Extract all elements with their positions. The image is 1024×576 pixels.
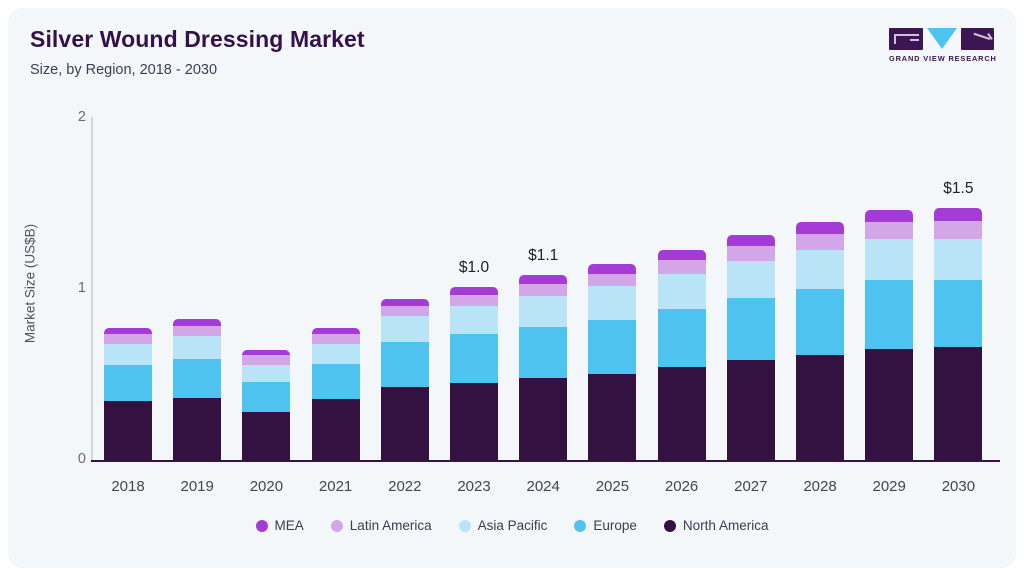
legend-swatch-icon <box>664 520 676 532</box>
bar-segment-north-america[interactable] <box>381 387 429 460</box>
bar-segment-latin-america[interactable] <box>242 355 290 365</box>
bar-segment-latin-america[interactable] <box>588 274 636 287</box>
bar-segment-north-america[interactable] <box>173 398 221 460</box>
bar-segment-asia-pacific[interactable] <box>312 344 360 365</box>
bar-segment-europe[interactable] <box>104 365 152 401</box>
y-axis-tick: 2 <box>54 109 86 125</box>
bar-segment-europe[interactable] <box>865 280 913 349</box>
bar-segment-mea[interactable] <box>934 208 982 221</box>
x-axis-tick-2019: 2019 <box>157 478 237 495</box>
y-axis-tick: 1 <box>54 280 86 296</box>
bar-2025[interactable] <box>588 8 636 460</box>
bar-segment-north-america[interactable] <box>519 378 567 460</box>
legend-swatch-icon <box>459 520 471 532</box>
bar-segment-latin-america[interactable] <box>312 334 360 344</box>
bar-segment-asia-pacific[interactable] <box>727 261 775 298</box>
bar-segment-europe[interactable] <box>796 289 844 355</box>
bar-segment-asia-pacific[interactable] <box>104 344 152 365</box>
bar-segment-north-america[interactable] <box>450 383 498 460</box>
bar-2022[interactable] <box>381 8 429 460</box>
bar-segment-asia-pacific[interactable] <box>519 296 567 327</box>
legend-swatch-icon <box>331 520 343 532</box>
bar-segment-europe[interactable] <box>658 309 706 367</box>
bar-2027[interactable] <box>727 8 775 460</box>
bar-segment-mea[interactable] <box>312 328 360 334</box>
bar-segment-europe[interactable] <box>312 364 360 399</box>
bar-segment-north-america[interactable] <box>934 347 982 460</box>
bar-segment-mea[interactable] <box>519 275 567 284</box>
bar-segment-mea[interactable] <box>381 299 429 306</box>
bar-segment-north-america[interactable] <box>865 349 913 460</box>
bar-segment-north-america[interactable] <box>658 367 706 460</box>
bar-segment-europe[interactable] <box>519 327 567 378</box>
x-axis-line <box>91 460 1000 462</box>
bar-2030[interactable]: $1.5 <box>934 8 982 460</box>
bar-segment-asia-pacific[interactable] <box>865 239 913 280</box>
bar-segment-north-america[interactable] <box>312 399 360 460</box>
bar-2028[interactable] <box>796 8 844 460</box>
y-axis-label: Market Size (US$B) <box>23 199 38 369</box>
bar-segment-latin-america[interactable] <box>934 221 982 238</box>
legend-label: Asia Pacific <box>478 518 548 533</box>
x-axis-tick-2030: 2030 <box>918 478 998 495</box>
x-axis-tick-2020: 2020 <box>226 478 306 495</box>
bar-segment-asia-pacific[interactable] <box>934 239 982 281</box>
bar-segment-latin-america[interactable] <box>658 260 706 274</box>
bar-segment-latin-america[interactable] <box>381 306 429 317</box>
x-axis-tick-2027: 2027 <box>711 478 791 495</box>
bar-segment-mea[interactable] <box>450 287 498 295</box>
bar-segment-mea[interactable] <box>727 235 775 246</box>
bar-segment-asia-pacific[interactable] <box>658 274 706 309</box>
bar-segment-north-america[interactable] <box>588 374 636 460</box>
bar-segment-mea[interactable] <box>173 319 221 325</box>
bar-segment-europe[interactable] <box>173 359 221 397</box>
bar-segment-north-america[interactable] <box>727 360 775 460</box>
bar-segment-latin-america[interactable] <box>519 284 567 296</box>
x-axis-tick-2023: 2023 <box>434 478 514 495</box>
stacked-bar-chart: Market Size (US$B) 012 $1.0$1.1$1.5 2018… <box>8 8 1016 568</box>
bar-2018[interactable] <box>104 8 152 460</box>
bar-segment-asia-pacific[interactable] <box>450 306 498 334</box>
y-axis-tick: 0 <box>54 451 86 467</box>
bar-2021[interactable] <box>312 8 360 460</box>
bar-2019[interactable] <box>173 8 221 460</box>
bar-segment-latin-america[interactable] <box>173 326 221 336</box>
bar-segment-mea[interactable] <box>588 264 636 273</box>
x-axis-tick-2028: 2028 <box>780 478 860 495</box>
legend-label: MEA <box>275 518 304 533</box>
x-axis-tick-2018: 2018 <box>88 478 168 495</box>
legend-item-europe[interactable]: Europe <box>574 518 637 533</box>
legend-swatch-icon <box>574 520 586 532</box>
bar-segment-latin-america[interactable] <box>450 295 498 306</box>
bar-segment-latin-america[interactable] <box>796 234 844 249</box>
legend-item-latin-america[interactable]: Latin America <box>331 518 432 533</box>
bar-segment-north-america[interactable] <box>796 355 844 460</box>
chart-legend: MEALatin AmericaAsia PacificEuropeNorth … <box>8 518 1016 533</box>
legend-item-north-america[interactable]: North America <box>664 518 769 533</box>
bar-segment-mea[interactable] <box>104 328 152 334</box>
bar-2029[interactable] <box>865 8 913 460</box>
bar-2026[interactable] <box>658 8 706 460</box>
chart-card: Silver Wound Dressing Market Size, by Re… <box>8 8 1016 568</box>
x-axis-tick-2025: 2025 <box>572 478 652 495</box>
x-axis-tick-2024: 2024 <box>503 478 583 495</box>
bar-segment-asia-pacific[interactable] <box>381 316 429 342</box>
bar-segment-latin-america[interactable] <box>104 334 152 344</box>
legend-label: Europe <box>593 518 637 533</box>
bar-segment-asia-pacific[interactable] <box>173 336 221 359</box>
bar-value-label: $1.1 <box>503 247 583 265</box>
legend-item-mea[interactable]: MEA <box>256 518 304 533</box>
bar-2023[interactable]: $1.0 <box>450 8 498 460</box>
bar-segment-europe[interactable] <box>588 320 636 374</box>
bar-segment-north-america[interactable] <box>104 401 152 460</box>
bar-2024[interactable]: $1.1 <box>519 8 567 460</box>
bar-value-label: $1.0 <box>434 259 514 277</box>
legend-label: Latin America <box>350 518 432 533</box>
bar-segment-asia-pacific[interactable] <box>242 365 290 382</box>
x-axis-tick-2022: 2022 <box>365 478 445 495</box>
bar-segment-mea[interactable] <box>865 210 913 222</box>
bar-segment-latin-america[interactable] <box>865 222 913 238</box>
bar-segment-latin-america[interactable] <box>727 246 775 261</box>
legend-swatch-icon <box>256 520 268 532</box>
bar-segment-asia-pacific[interactable] <box>588 286 636 319</box>
bar-value-label: $1.5 <box>918 180 998 198</box>
bar-segment-mea[interactable] <box>658 250 706 260</box>
bar-segment-europe[interactable] <box>381 342 429 387</box>
bar-segment-north-america[interactable] <box>242 412 290 460</box>
bar-segment-asia-pacific[interactable] <box>796 250 844 289</box>
x-axis-tick-2029: 2029 <box>849 478 929 495</box>
x-axis-tick-2026: 2026 <box>642 478 722 495</box>
bar-segment-mea[interactable] <box>242 350 290 355</box>
bar-segment-europe[interactable] <box>934 280 982 347</box>
bar-segment-europe[interactable] <box>727 298 775 360</box>
x-axis-tick-2021: 2021 <box>296 478 376 495</box>
legend-item-asia-pacific[interactable]: Asia Pacific <box>459 518 548 533</box>
legend-label: North America <box>683 518 769 533</box>
bar-2020[interactable] <box>242 8 290 460</box>
bar-segment-europe[interactable] <box>450 334 498 383</box>
bar-segment-mea[interactable] <box>796 222 844 234</box>
y-axis-line <box>91 117 93 461</box>
bar-segment-europe[interactable] <box>242 382 290 412</box>
